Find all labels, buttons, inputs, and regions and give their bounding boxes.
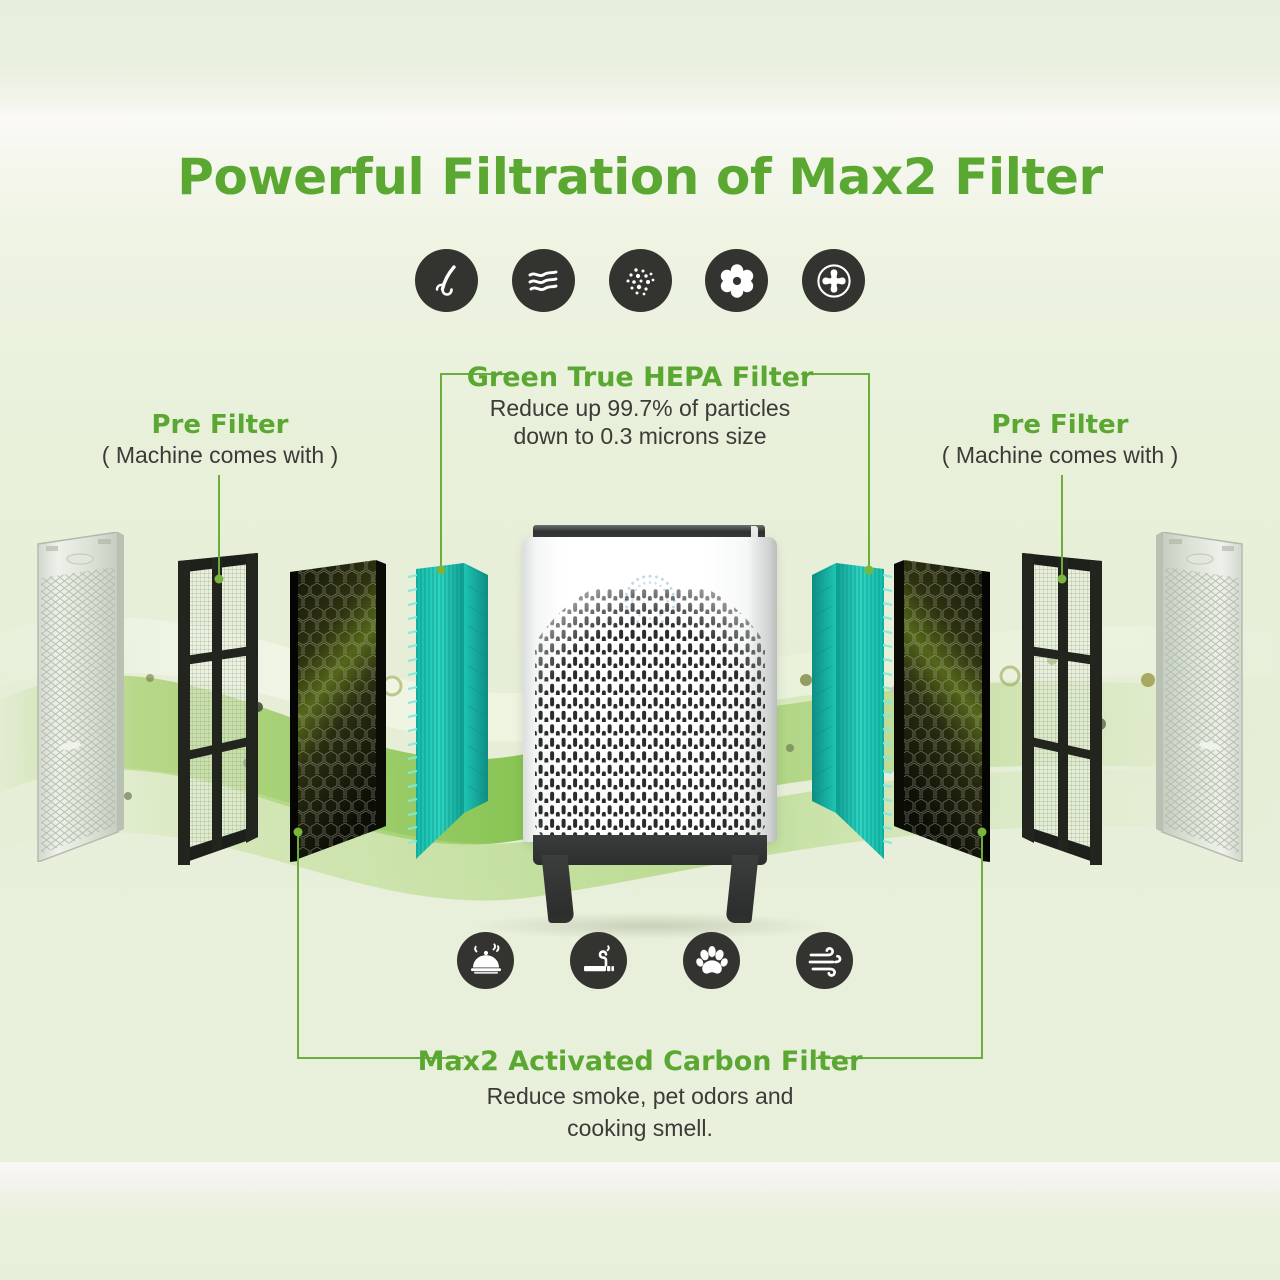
- top-band: [0, 0, 1280, 115]
- pre-filter-right-heading: Pre Filter: [865, 410, 1255, 441]
- carbon-line1: Reduce smoke, pet odors and: [340, 1082, 940, 1110]
- virus-icon[interactable]: [802, 249, 865, 312]
- hair-follicle-icon[interactable]: [415, 249, 478, 312]
- air-purifier-unit: [515, 525, 785, 925]
- purifier-shadow: [475, 913, 825, 939]
- contaminant-icon-row-top: [415, 249, 865, 312]
- label-pre-filter-right: Pre Filter ( Machine comes with ): [865, 410, 1255, 469]
- label-carbon-filter: Max2 Activated Carbon Filter Reduce smok…: [340, 1046, 940, 1142]
- paw-print-icon[interactable]: [683, 932, 740, 989]
- pollen-flower-icon[interactable]: [705, 249, 768, 312]
- pre-filter-panel-right: [1002, 553, 1112, 873]
- pre-filter-left-heading: Pre Filter: [25, 410, 415, 441]
- outer-mesh-panel-right: [1136, 532, 1256, 862]
- wind-icon[interactable]: [796, 932, 853, 989]
- food-cloche-icon[interactable]: [457, 932, 514, 989]
- carbon-filter-panel-right: [878, 558, 998, 868]
- purifier-body: [523, 537, 777, 842]
- hepa-heading: Green True HEPA Filter: [390, 362, 890, 394]
- carbon-line2: cooking smell.: [340, 1114, 940, 1142]
- label-hepa-filter: Green True HEPA Filter Reduce up 99.7% o…: [390, 362, 890, 450]
- hepa-filter-panel-left: [408, 563, 498, 863]
- pre-filter-left-line1: ( Machine comes with ): [25, 441, 415, 469]
- infographic-canvas: Powerful Filtration of Max2 Filter: [0, 0, 1280, 1280]
- carbon-heading: Max2 Activated Carbon Filter: [340, 1046, 940, 1078]
- odor-icon-row-bottom: [457, 932, 853, 989]
- outer-mesh-panel-left: [24, 532, 144, 862]
- hepa-line1: Reduce up 99.7% of particles: [390, 394, 890, 422]
- carbon-filter-panel-left: [282, 558, 402, 868]
- hepa-line2: down to 0.3 microns size: [390, 422, 890, 450]
- pre-filter-right-line1: ( Machine comes with ): [865, 441, 1255, 469]
- purifier-grille: [535, 587, 765, 842]
- purifier-leg-left: [541, 855, 574, 923]
- dust-particles-icon[interactable]: [609, 249, 672, 312]
- pre-filter-panel-left: [168, 553, 278, 873]
- page-title: Powerful Filtration of Max2 Filter: [0, 148, 1280, 206]
- bottom-band: [0, 1162, 1280, 1280]
- cigarette-smoke-icon[interactable]: [570, 932, 627, 989]
- smoke-waves-icon[interactable]: [512, 249, 575, 312]
- purifier-leg-right: [725, 855, 758, 923]
- label-pre-filter-left: Pre Filter ( Machine comes with ): [25, 410, 415, 469]
